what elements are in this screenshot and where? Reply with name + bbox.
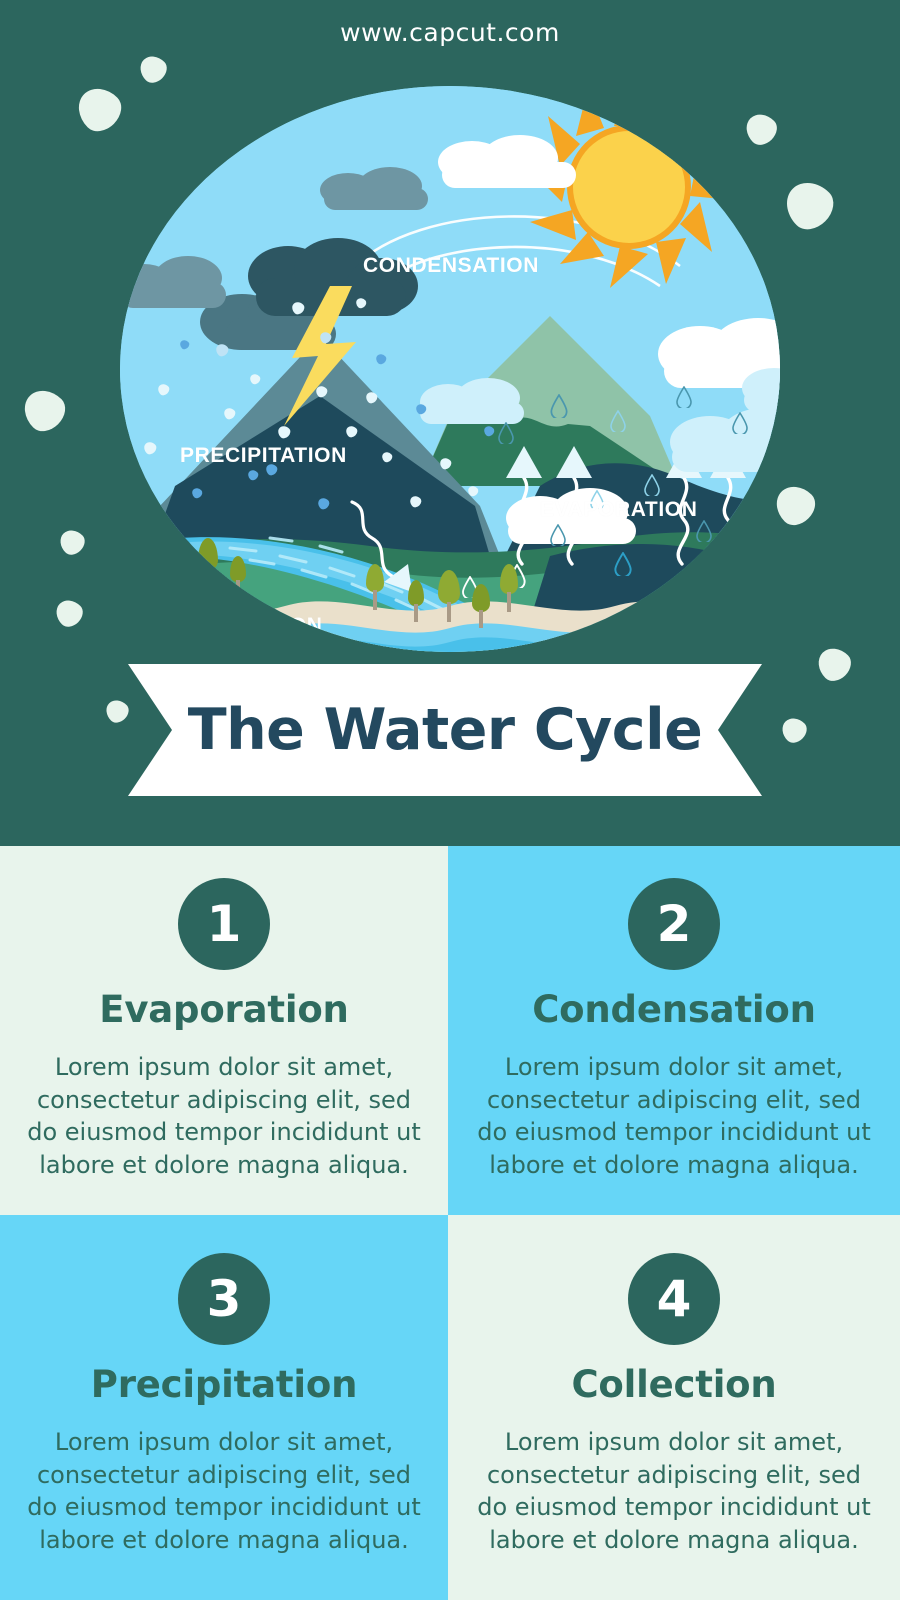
tree-icon [438, 570, 460, 622]
step-card-evaporation[interactable]: 1 Evaporation Lorem ipsum dolor sit amet… [0, 846, 448, 1215]
cloud-icon [420, 134, 590, 196]
vapor-droplet-icon [550, 524, 566, 546]
title-banner: The Water Cycle [128, 664, 762, 796]
step-body: Lorem ipsum dolor sit amet, consectetur … [474, 1426, 874, 1557]
step-body: Lorem ipsum dolor sit amet, consectetur … [26, 1051, 422, 1182]
step-card-condensation[interactable]: 2 Condensation Lorem ipsum dolor sit ame… [448, 846, 900, 1215]
step-card-precipitation[interactable]: 3 Precipitation Lorem ipsum dolor sit am… [0, 1215, 448, 1600]
step-number-badge: 4 [628, 1253, 720, 1345]
decorative-droplet [811, 641, 856, 686]
scene-label-precipitation: PRECIPITATION [180, 444, 347, 468]
tree-icon [408, 580, 424, 622]
step-title: Collection [571, 1363, 776, 1406]
vapor-droplet-icon [644, 474, 660, 496]
step-number-badge: 2 [628, 878, 720, 970]
step-card-collection[interactable]: 4 Collection Lorem ipsum dolor sit amet,… [448, 1215, 900, 1600]
scene-label-collection: COLLECTION [180, 614, 323, 638]
step-number-badge: 1 [178, 878, 270, 970]
vapor-droplet-icon [732, 412, 748, 434]
tree-icon [198, 538, 218, 586]
steps-grid: 1 Evaporation Lorem ipsum dolor sit amet… [0, 846, 900, 1600]
vapor-droplet-icon [732, 566, 748, 588]
cloud-icon [120, 254, 238, 318]
step-number-badge: 3 [178, 1253, 270, 1345]
step-body: Lorem ipsum dolor sit amet, consectetur … [474, 1051, 874, 1182]
tree-icon [472, 584, 490, 628]
water-cycle-illustration: CONDENSATION PRECIPITATION EVAPORATION C… [120, 86, 780, 652]
decorative-droplet [777, 713, 811, 747]
vapor-droplet-icon [498, 422, 514, 444]
step-title: Condensation [532, 988, 816, 1031]
scene-label-condensation: CONDENSATION [363, 254, 539, 278]
tree-icon [500, 564, 518, 612]
scene-label-evaporation: EVAPORATION [540, 498, 698, 522]
decorative-droplet [16, 382, 73, 439]
cloud-icon [652, 408, 780, 480]
vapor-droplet-icon [676, 386, 692, 408]
decorative-droplet [51, 595, 88, 632]
step-title: Evaporation [99, 988, 348, 1031]
decorative-droplet [55, 525, 89, 559]
decorative-droplet [101, 695, 132, 726]
vapor-droplet-icon [696, 520, 712, 542]
decorative-droplet [135, 51, 172, 88]
cloud-icon [406, 376, 536, 430]
vapor-droplet-icon [610, 410, 626, 432]
step-body: Lorem ipsum dolor sit amet, consectetur … [26, 1426, 422, 1557]
step-title: Precipitation [91, 1363, 357, 1406]
hero-panel: www.capcut.com [0, 0, 900, 846]
decorative-droplet [776, 172, 841, 237]
page-title: The Water Cycle [188, 697, 703, 763]
watermark-text: www.capcut.com [0, 18, 900, 47]
tree-icon [366, 564, 384, 610]
vapor-droplet-icon [614, 552, 632, 576]
tree-icon [230, 556, 246, 598]
vapor-droplet-icon [750, 484, 764, 503]
vapor-droplet-icon [550, 394, 568, 418]
